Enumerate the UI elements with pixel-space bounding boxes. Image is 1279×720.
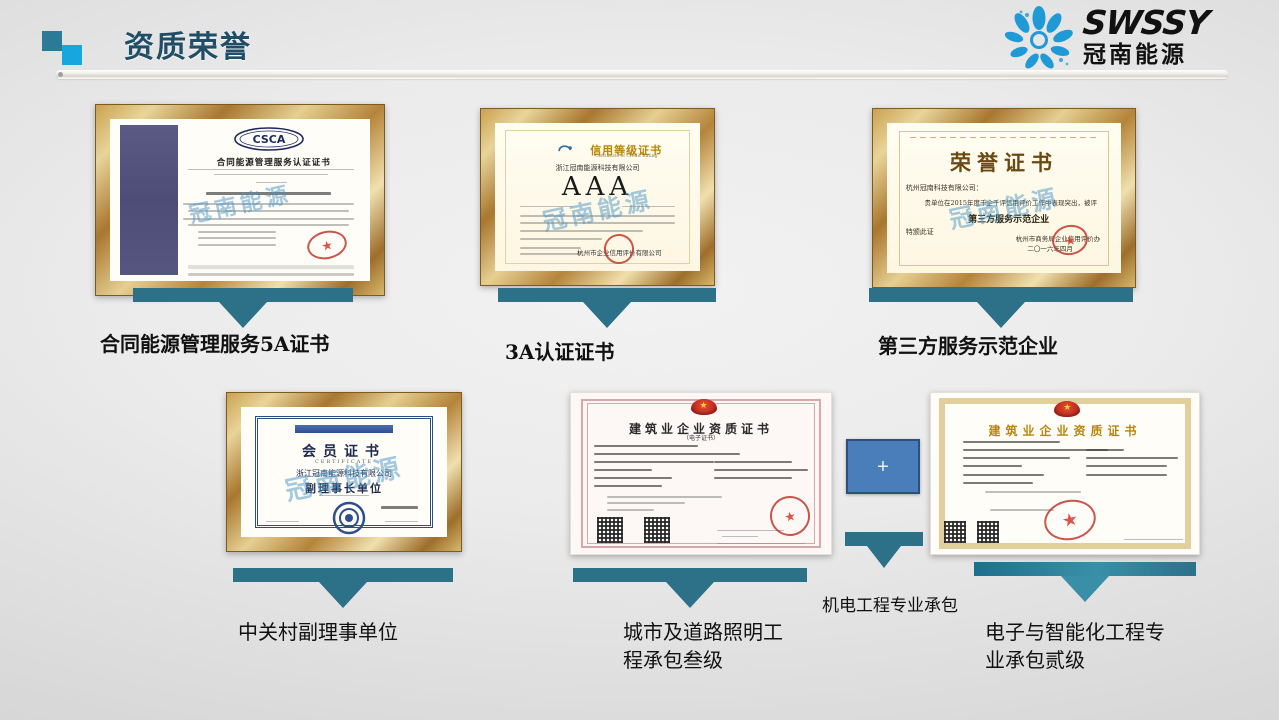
- decor-square-light: [62, 45, 82, 65]
- qr-code: [977, 521, 999, 543]
- decor-square-dark: [42, 31, 62, 51]
- ribbon-banner: [295, 425, 394, 433]
- certificate-title: 合同能源管理服务认证证书: [178, 156, 370, 168]
- csca-seal-icon: CSCA: [232, 127, 306, 151]
- callout-arrow-member: [233, 568, 453, 608]
- callout-arrow-honor: [869, 288, 1133, 328]
- qr-code: [944, 521, 966, 543]
- certificate-title-en: CERTIFICATE: [241, 459, 447, 465]
- national-emblem-icon: [1054, 401, 1080, 417]
- page-title: 资质荣誉: [124, 22, 252, 66]
- certificate-grade: AAA: [495, 172, 700, 202]
- certificate-body: 贵单位在2015年度千企千评信用评价工作中表现突出，被评: [924, 197, 1111, 207]
- certificate-issuer: 杭州市企业信用评价有限公司: [577, 247, 692, 257]
- certificate-image-aaa[interactable]: 信用等级证书 Certificate of Credit Rating 浙江冠南…: [480, 108, 715, 286]
- certificate-side-band: [120, 125, 177, 274]
- caption-5a: 合同能源管理服务5A证书: [100, 330, 430, 358]
- certificate-title-en: Certificate of Credit Rating: [565, 154, 688, 159]
- certificate-subtitle: （电子证书）: [571, 433, 831, 442]
- organization-emblem-icon: [332, 501, 366, 535]
- brand-logo: SWSSY 冠南能源: [999, 2, 1269, 74]
- callout-arrow-construction-a: [573, 568, 807, 608]
- certificate-image-honor[interactable]: 荣誉证书 杭州冠南科技有限公司： 贵单位在2015年度千企千评信用评价工作中表现…: [872, 108, 1136, 288]
- callout-arrow-mechanical: [845, 532, 923, 568]
- caption-member: 中关村副理事单位: [238, 618, 538, 646]
- certificate-image-construction-a[interactable]: 建筑业企业资质证书 （电子证书） ★: [570, 392, 832, 555]
- certificate-title: 建筑业企业资质证书: [931, 422, 1199, 439]
- certificate-company: 浙江冠南能源科技有限公司: [241, 468, 447, 479]
- qr-code: [597, 517, 623, 543]
- caption-construction-b: 电子与智能化工程专 业承包贰级: [985, 618, 1235, 674]
- caption-aaa: 3A认证证书: [505, 338, 805, 366]
- certificate-role: 副理事长单位: [241, 480, 447, 496]
- certificate-image-construction-b[interactable]: 建筑业企业资质证书 ★: [930, 392, 1200, 555]
- certificate-title: 荣誉证书: [887, 147, 1121, 177]
- callout-arrow-aaa: [498, 288, 716, 328]
- certificate-image-5a[interactable]: CSCA 合同能源管理服务认证证书 ★ 冠南能源: [95, 104, 385, 296]
- callout-arrow-5a: [133, 288, 353, 328]
- certificate-company: 杭州冠南科技有限公司：: [906, 183, 1070, 193]
- national-emblem-icon: [691, 399, 717, 415]
- caption-construction-a: 城市及道路照明工 程承包叁级: [623, 618, 873, 674]
- callout-arrow-construction-b: [974, 562, 1196, 602]
- water-droplet-ring-logo-icon: [999, 4, 1079, 72]
- logo-wordmark: SWSSY: [1081, 6, 1210, 40]
- caption-honor: 第三方服务示范企业: [878, 332, 1178, 360]
- certificate-note: 特颁此证: [906, 227, 976, 237]
- certificate-title: 会员证书: [241, 441, 447, 461]
- certificate-award: 第三方服务示范企业: [938, 212, 1078, 225]
- qr-code: [644, 517, 670, 543]
- logo-subtext: 冠南能源: [1083, 40, 1208, 70]
- svg-text:CSCA: CSCA: [253, 133, 286, 146]
- logo-text: SWSSY 冠南能源: [1083, 6, 1208, 70]
- page-header: 资质荣誉 SWSSY 冠南能源: [0, 0, 1279, 88]
- certificate-image-member[interactable]: 会员证书 CERTIFICATE 浙江冠南能源科技有限公司 副理事长单位 冠南能…: [226, 392, 462, 552]
- add-button[interactable]: +: [846, 439, 920, 494]
